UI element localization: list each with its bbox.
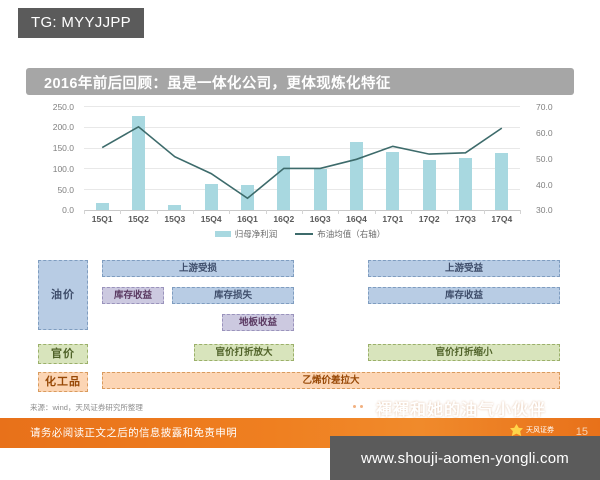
chart-legend: 归母净利润 布油均值（右轴） [26,228,574,240]
matrix-box-official-discount-widen: 官价打折放大 [194,344,294,361]
legend-item-bar: 归母净利润 [215,228,278,240]
matrix-category-official-price: 官价 [38,344,88,364]
logo-name: 天风证券 [526,427,554,435]
source-note: 来源：wind，天风证券研究所整理 [30,402,143,413]
watermark-text: 褌褌和她的油气小伙伴 [376,396,546,420]
y-axis-right-tick: 30.0 [536,205,572,215]
matrix-box-upstream-gain: 上游受益 [368,260,560,277]
matrix-box-official-discount-narrow: 官价打折缩小 [368,344,560,361]
matrix-box-ethylene-spread-widen: 乙烯价差拉大 [102,372,560,389]
y-axis-left-tick: 0.0 [38,205,74,215]
wechat-icon [350,400,370,416]
legend-label-line: 布油均值（右轴） [317,228,385,240]
page-title: 2016年前后回顾：虽是一体化公司，更体现炼化特征 [44,72,391,93]
y-axis-left-tick: 200.0 [38,122,74,132]
y-axis-left-tick: 150.0 [38,143,74,153]
footer-disclaimer: 请务必阅读正文之后的信息披露和免责申明 [30,425,237,440]
url-bar: www.shouji-aomen-yongli.com [330,436,600,480]
matrix-box-floor-gain: 地板收益 [222,314,294,331]
chart-plot-area [84,106,520,210]
url-text: www.shouji-aomen-yongli.com [361,450,569,467]
matrix-category-oil-price: 油价 [38,260,88,330]
legend-label-bar: 归母净利润 [235,228,278,240]
y-axis-right-tick: 70.0 [536,102,572,112]
matrix-box-upstream-loss: 上游受损 [102,260,294,277]
y-axis-right-tick: 60.0 [536,128,572,138]
y-axis-left-tick: 50.0 [38,185,74,195]
y-axis-left-tick: 250.0 [38,102,74,112]
legend-line-swatch-icon [295,233,313,235]
chart-container: 250.0 200.0 150.0 100.0 50.0 0.0 70.0 60… [26,100,574,250]
slide-title-bar: 2016年前后回顾：虽是一体化公司，更体现炼化特征 [26,68,574,95]
matrix-box-inventory-gain-right: 库存收益 [368,287,560,304]
y-axis-left-tick: 100.0 [38,164,74,174]
slide-canvas: 2016年前后回顾：虽是一体化公司，更体现炼化特征 250.0 200.0 15… [0,58,600,418]
legend-item-line: 布油均值（右轴） [295,228,385,240]
matrix-box-inventory-loss: 库存损失 [172,287,294,304]
matrix-diagram: 油价 官价 化工品 上游受损 上游受益 库存收益 库存损失 库存收益 地板收益 … [26,256,574,396]
matrix-box-inventory-gain-left: 库存收益 [102,287,164,304]
legend-bar-swatch-icon [215,231,231,237]
y-axis-right-tick: 50.0 [536,154,572,164]
x-axis-label: 17Q4 [481,214,523,224]
tg-tag: TG: MYYJJPP [18,8,144,38]
matrix-category-chemicals: 化工品 [38,372,88,392]
y-axis-right-tick: 40.0 [536,180,572,190]
line-series [84,106,520,210]
watermark: 褌褌和她的油气小伙伴 [350,396,546,420]
